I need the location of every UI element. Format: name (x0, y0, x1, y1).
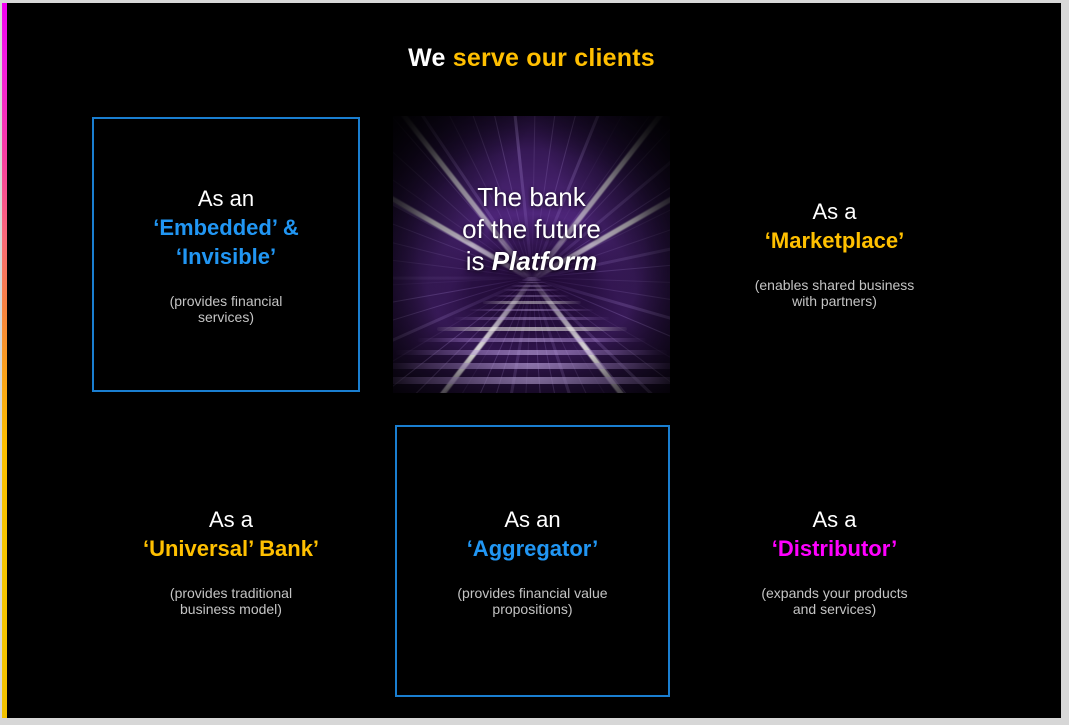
card-subtitle: (enables shared business with partners) (755, 277, 915, 309)
tunnel-floor-rung (511, 285, 553, 287)
tunnel-floor-rung (417, 338, 646, 343)
card-subtitle-line-2: with partners) (755, 293, 915, 309)
tunnel-floor-rung (469, 309, 594, 312)
card-headline: ‘Universal’ Bank’ (143, 535, 319, 563)
card-lead-text: As a (209, 506, 253, 534)
card-headline: ‘Aggregator’ (467, 535, 599, 563)
card-subtitle-line-2: services) (170, 309, 283, 325)
slide-canvas: We serve our clients As an ‘Embedded’ & … (2, 3, 1061, 718)
card-headline-second-line: ‘Invisible’ (176, 243, 276, 271)
card-marketplace[interactable]: As a ‘Marketplace’ (enables shared busin… (696, 115, 973, 392)
card-headline: ‘Embedded’ & (153, 214, 298, 242)
card-bank-of-the-future[interactable]: The bank of the future is Platform (393, 116, 670, 393)
tunnel-floor-rung (436, 327, 626, 331)
card-subtitle-line-2: and services) (761, 601, 907, 617)
card-embedded-invisible[interactable]: As an ‘Embedded’ & ‘Invisible’ (provides… (92, 117, 360, 392)
tunnel-floor-rung (396, 350, 667, 355)
card-subtitle-line-1: (provides financial (170, 293, 283, 309)
card-headline: ‘Distributor’ (772, 535, 897, 563)
card-subtitle-line-1: (provides financial value (457, 585, 607, 601)
card-subtitle-line-2: propositions) (457, 601, 607, 617)
card-subtitle-line-2: business model) (170, 601, 292, 617)
tunnel-floor-rung (503, 289, 560, 291)
card-headline: ‘Marketplace’ (765, 227, 904, 255)
page-title-gold-part: serve our clients (453, 44, 655, 72)
card-embedded-invisible-content: As an ‘Embedded’ & ‘Invisible’ (provides… (94, 119, 358, 390)
card-universal-bank-content: As a ‘Universal’ Bank’ (provides traditi… (95, 425, 367, 697)
slide-frame: We serve our clients As an ‘Embedded’ & … (0, 0, 1069, 725)
card-aggregator-content: As an ‘Aggregator’ (provides financial v… (397, 427, 668, 695)
tunnel-floor-rung (482, 301, 580, 304)
card-subtitle-line-1: (provides traditional (170, 585, 292, 601)
tunnel-floor-rung (393, 377, 670, 384)
card-universal-bank[interactable]: As a ‘Universal’ Bank’ (provides traditi… (95, 425, 367, 697)
tunnel-floor-rung (393, 363, 670, 369)
card-lead-text: As a (812, 198, 856, 226)
left-gradient-accent-bar (2, 3, 7, 718)
page-title-white-part: We (408, 44, 445, 72)
tunnel-floor-rung (521, 279, 542, 280)
page-title: We serve our clients (2, 44, 1061, 73)
card-lead-text: As an (504, 506, 560, 534)
card-subtitle: (provides financial value propositions) (457, 585, 607, 617)
card-subtitle: (provides financial services) (170, 293, 283, 325)
purple-tunnel-artwork (393, 116, 670, 393)
card-subtitle-line-1: (enables shared business (755, 277, 915, 293)
tunnel-floor-rung (494, 295, 570, 297)
card-lead-text: As a (812, 506, 856, 534)
card-distributor[interactable]: As a ‘Distributor’ (expands your product… (696, 425, 973, 697)
card-distributor-content: As a ‘Distributor’ (expands your product… (696, 425, 973, 697)
card-marketplace-content: As a ‘Marketplace’ (enables shared busin… (696, 115, 973, 392)
tunnel-floor-rung (454, 317, 609, 320)
card-subtitle: (expands your products and services) (761, 585, 907, 617)
card-subtitle-line-1: (expands your products (761, 585, 907, 601)
card-aggregator[interactable]: As an ‘Aggregator’ (provides financial v… (395, 425, 670, 697)
card-lead-text: As an (198, 185, 254, 213)
card-subtitle: (provides traditional business model) (170, 585, 292, 617)
